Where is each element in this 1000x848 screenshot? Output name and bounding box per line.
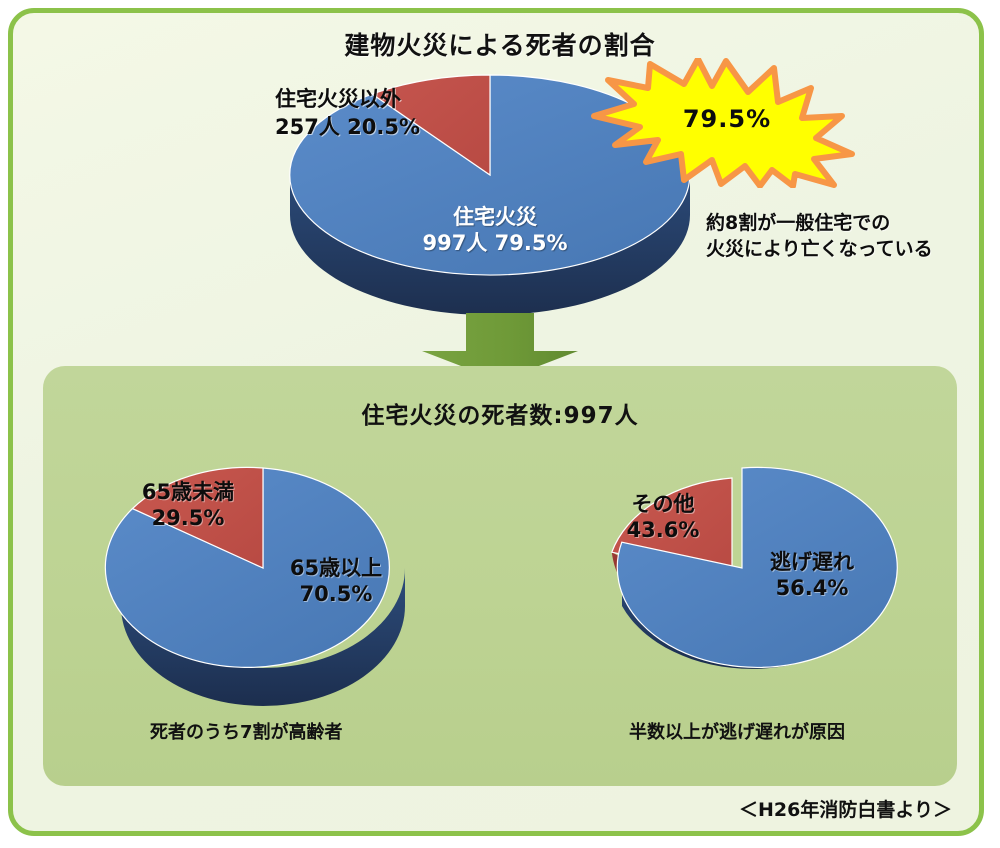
infographic-canvas: 建物火災による死者の割合 [0,0,1000,848]
top-pie-outside-label: 住宅火災以外 257人 20.5% [275,86,420,141]
highlight-starburst: 79.5% [588,58,858,188]
top-chart-note-line2: 火災により亡くなっている [706,236,933,262]
top-pie-outside-label-line1: 住宅火災以外 [275,86,420,114]
source-note: ＜H26年消防白書より＞ [739,795,952,822]
panel-title: 住宅火災の死者数:997人 [0,396,1000,430]
right-pie-chart [602,468,902,718]
left-pie-svg [120,468,405,708]
top-chart-note-line1: 約8割が一般住宅での [706,210,933,236]
top-chart-note: 約8割が一般住宅での 火災により亡くなっている [706,210,933,262]
right-pie-svg [602,468,902,718]
starburst-value: 79.5% [592,54,862,184]
left-chart-caption: 死者のうち7割が高齢者 [150,718,343,744]
top-pie-outside-label-line2: 257人 20.5% [275,114,420,142]
right-chart-caption: 半数以上が逃げ遅れが原因 [629,718,845,744]
right-pie-slice-blue [617,467,897,667]
left-pie-chart [120,468,405,708]
